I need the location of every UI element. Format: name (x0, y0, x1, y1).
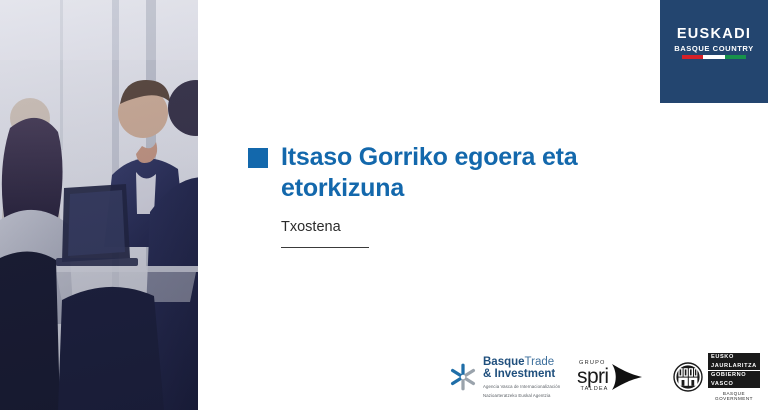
subtitle-divider (281, 247, 369, 248)
euskadi-wordmark: EUSKADI (660, 27, 768, 42)
spri-logo: GRUPO spri TALDEA (577, 361, 653, 393)
presentation-slide: EUSKADI BASQUE COUNTRY Itsaso Gorriko eg… (0, 0, 768, 410)
basque-trade-tagline-eu: Nazioarteratzeko Euskal Agentzia (483, 393, 560, 399)
gv-line-eusko-jaurlaritza: EUSKO JAURLARITZA (708, 353, 760, 370)
flag-stripe-green (725, 55, 746, 59)
basque-flag-bar (682, 55, 746, 59)
meeting-photo-illustration (0, 0, 198, 410)
page-title: Itsaso Gorriko egoera eta etorkizuna (281, 142, 648, 203)
page-subtitle: Txostena (281, 219, 648, 236)
basque-trade-tagline-es: Agencia Vasca de Internacionalización (483, 384, 560, 390)
basque-government-text: EUSKO JAURLARITZA GOBIERNO VASCO BASQUE … (708, 353, 760, 401)
title-block: Itsaso Gorriko egoera eta etorkizuna Txo… (248, 142, 648, 248)
basque-trade-line1: BasqueTrade (483, 356, 560, 368)
title-row: Itsaso Gorriko egoera eta etorkizuna (248, 142, 648, 203)
euskadi-logo: EUSKADI BASQUE COUNTRY (660, 27, 768, 59)
gv-line-gobierno-vasco: GOBIERNO VASCO (708, 371, 760, 388)
title-bullet-square (248, 148, 268, 168)
snowflake-icon (450, 363, 476, 391)
spri-taldea-label: TALDEA (577, 387, 608, 393)
basque-trade-logo: BasqueTrade & Investment Agencia Vasca d… (450, 356, 563, 399)
subtitle-wrap: Txostena (281, 219, 648, 248)
cover-photo (0, 0, 198, 410)
basque-trade-word-basque: Basque (483, 356, 525, 368)
footer-logo-row: BasqueTrade & Investment Agencia Vasca d… (450, 352, 760, 402)
basque-trade-line2: & Investment (483, 368, 560, 381)
spri-wordmark: spri (577, 367, 608, 387)
basque-government-logo: EUSKO JAURLARITZA GOBIERNO VASCO BASQUE … (673, 353, 760, 401)
basque-trade-word-trade: Trade (525, 356, 555, 368)
euskadi-logo-panel: EUSKADI BASQUE COUNTRY (660, 0, 768, 103)
euskadi-tagline: BASQUE COUNTRY (660, 45, 768, 53)
flag-stripe-white (703, 55, 724, 59)
flag-stripe-red (682, 55, 703, 59)
spri-arrow-icon (610, 362, 644, 392)
basque-trade-text: BasqueTrade & Investment Agencia Vasca d… (483, 356, 560, 399)
gv-line-basque-government: BASQUE GOVERNMENT (708, 391, 760, 401)
spri-text: GRUPO spri TALDEA (577, 361, 608, 393)
coat-of-arms-icon (673, 362, 703, 392)
